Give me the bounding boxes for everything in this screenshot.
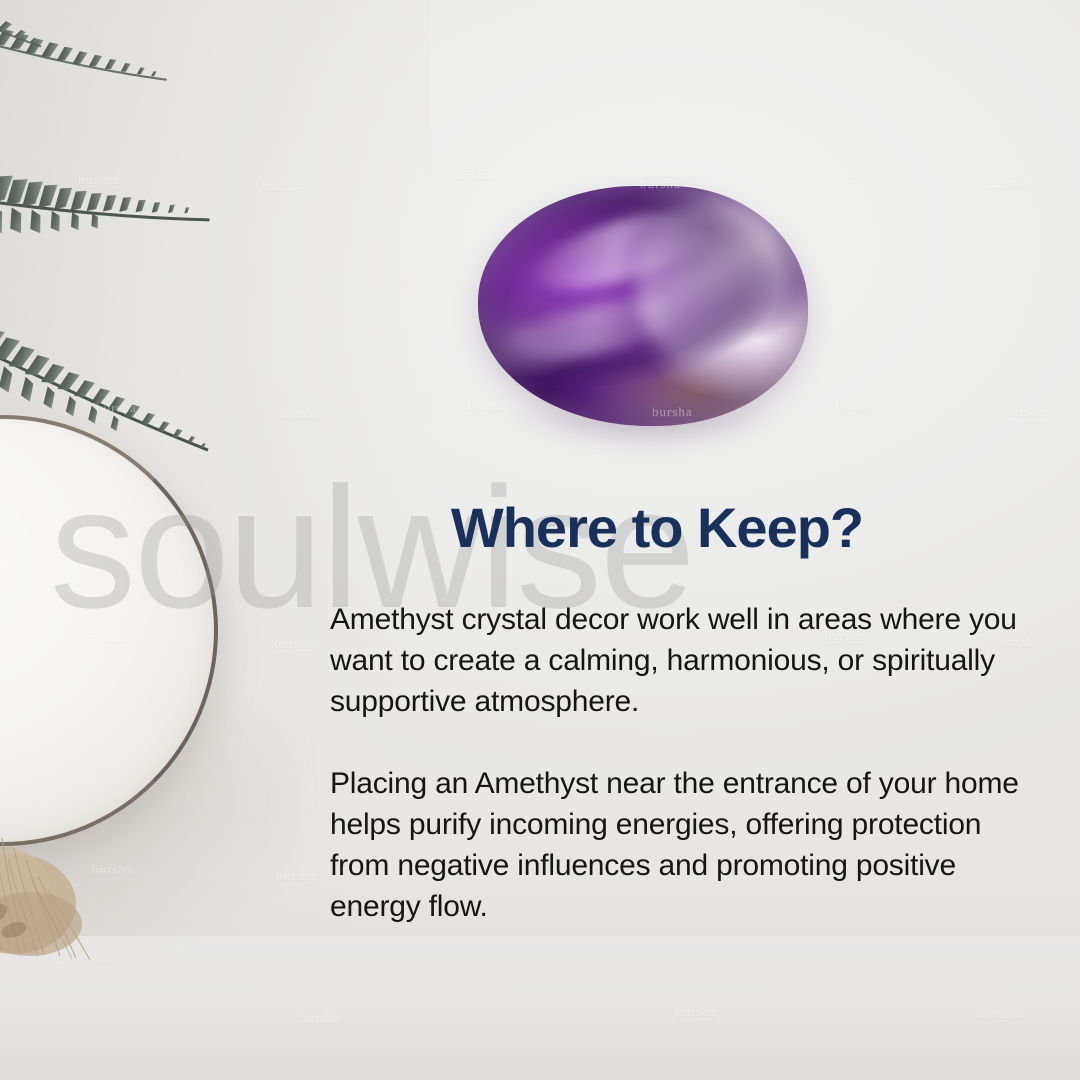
crystal-banding-right: [625, 191, 799, 378]
social-post-canvas: soulwise burshaburshaburshaburshaburshab…: [0, 0, 1080, 1080]
crystal-banding-top: [527, 193, 727, 304]
crystal-cast-shadow: [514, 396, 772, 442]
amethyst-crystal-image: [478, 186, 808, 426]
content-block: Where to Keep? Amethyst crystal decor wo…: [330, 498, 1030, 927]
page-title: Where to Keep?: [330, 498, 1030, 557]
paragraph-1: Amethyst crystal decor work well in area…: [330, 599, 1020, 722]
body-copy: Amethyst crystal decor work well in area…: [330, 599, 1030, 927]
amethyst-stone: [478, 186, 808, 426]
crystal-banding-mid: [488, 285, 698, 374]
paragraph-2: Placing an Amethyst near the entrance of…: [330, 763, 1020, 927]
